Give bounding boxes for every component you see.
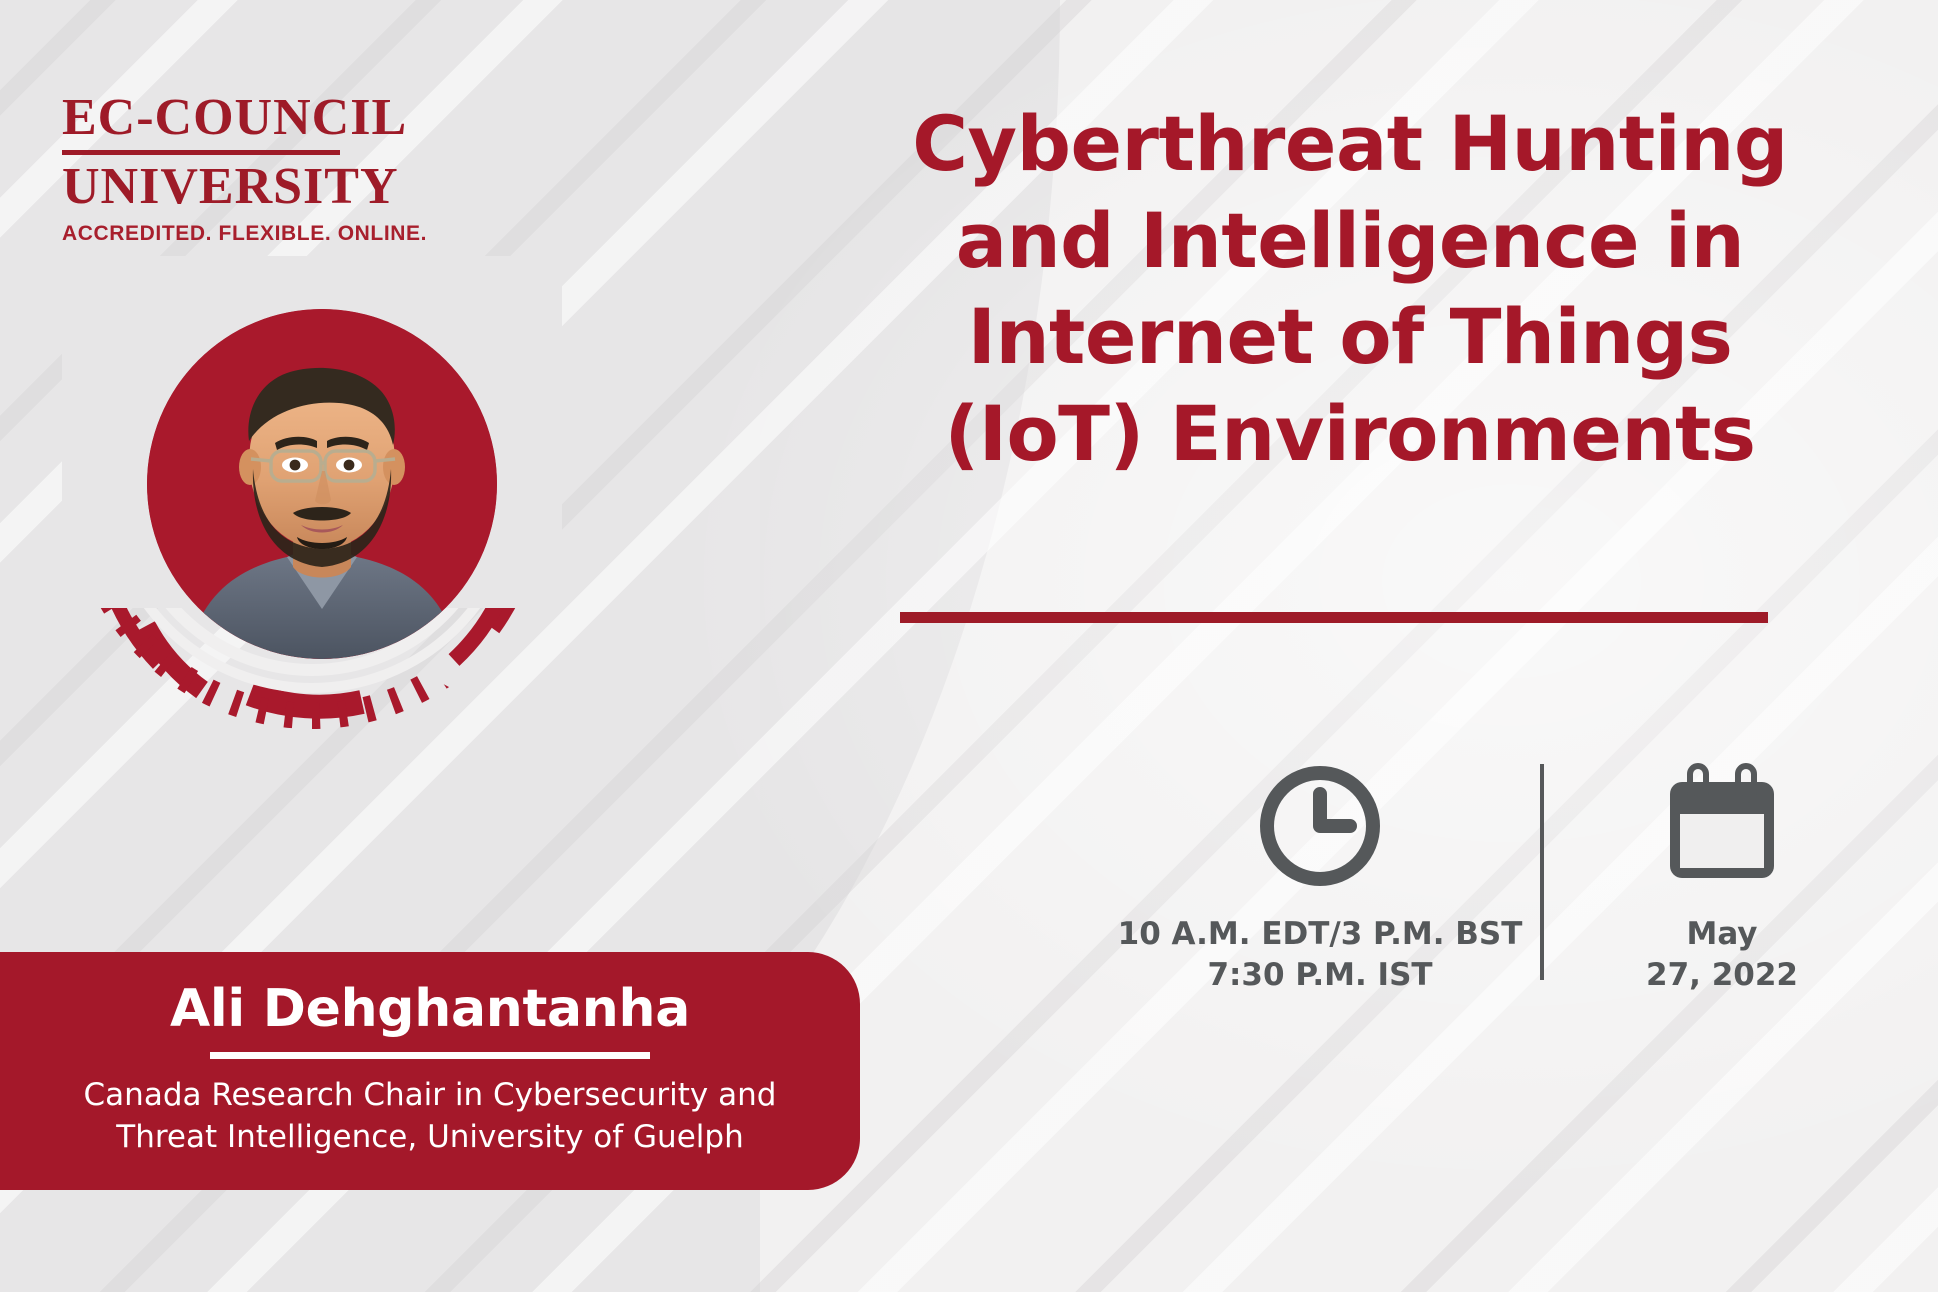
- logo-tagline: ACCREDITED. FLEXIBLE. ONLINE.: [62, 222, 482, 246]
- logo-text-ec-council: EC-COUNCIL: [62, 92, 482, 144]
- speaker-role-line-1: Canada Research Chair in Cybersecurity a…: [84, 1077, 777, 1113]
- ec-council-university-logo: EC-COUNCIL UNIVERSITY ACCREDITED. FLEXIB…: [62, 92, 482, 246]
- speaker-banner: Ali Dehghantanha Canada Research Chair i…: [0, 952, 860, 1190]
- speaker-name-underline: [210, 1052, 650, 1059]
- speaker-portrait-group: [62, 256, 562, 756]
- speaker-name: Ali Dehghantanha: [170, 983, 690, 1035]
- title-line-2: and Intelligence in: [840, 193, 1860, 290]
- meta-vertical-divider: [1540, 764, 1544, 980]
- speaker-photo: [147, 309, 497, 659]
- title-line-4: (IoT) Environments: [840, 386, 1860, 483]
- webinar-poster: EC-COUNCIL UNIVERSITY ACCREDITED. FLEXIB…: [0, 0, 1938, 1292]
- logo-divider-rule: [62, 150, 340, 155]
- title-underline-rule: [900, 612, 1768, 623]
- calendar-icon: [1656, 756, 1788, 896]
- event-date-line-2: 27, 2022: [1646, 955, 1798, 996]
- clock-icon: [1254, 756, 1386, 896]
- event-date-line-1: May: [1686, 916, 1757, 952]
- webinar-title: Cyberthreat Hunting and Intelligence in …: [840, 96, 1860, 482]
- event-time-block: 10 A.M. EDT/3 P.M. BST 7:30 P.M. IST: [1130, 756, 1510, 996]
- event-time-line-2: 7:30 P.M. IST: [1118, 955, 1523, 996]
- event-date-block: May 27, 2022: [1574, 756, 1870, 996]
- logo-text-university: UNIVERSITY: [62, 161, 482, 213]
- event-meta-row: 10 A.M. EDT/3 P.M. BST 7:30 P.M. IST May…: [1130, 756, 1870, 996]
- event-time-line-1: 10 A.M. EDT/3 P.M. BST: [1118, 916, 1523, 952]
- speaker-role: Canada Research Chair in Cybersecurity a…: [84, 1075, 777, 1159]
- title-line-1: Cyberthreat Hunting: [840, 96, 1860, 193]
- event-time-text: 10 A.M. EDT/3 P.M. BST 7:30 P.M. IST: [1118, 914, 1523, 996]
- event-date-text: May 27, 2022: [1646, 914, 1798, 996]
- title-line-3: Internet of Things: [840, 289, 1860, 386]
- speaker-avatar: [147, 309, 497, 659]
- speaker-role-line-2: Threat Intelligence, University of Guelp…: [84, 1117, 777, 1159]
